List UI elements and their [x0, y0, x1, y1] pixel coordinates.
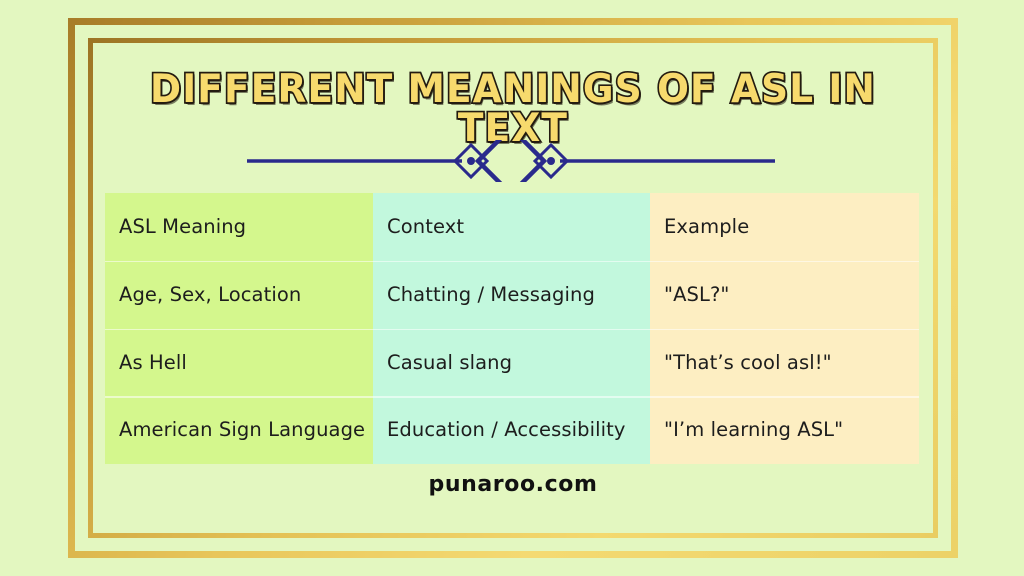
cell-context: Education / Accessibility [373, 396, 650, 464]
divider-dot-right [547, 157, 555, 165]
asl-meanings-table: ASL Meaning Context Example Age, Sex, Lo… [105, 193, 919, 464]
footer: punaroo.com [88, 472, 938, 497]
poster-canvas: DIFFERENT MEANINGS OF ASL IN TEXT ASL Me… [0, 0, 1024, 576]
cell-example: "That’s cool asl!" [650, 329, 919, 397]
table-header-context: Context [373, 193, 650, 261]
table-row: American Sign Language Education / Acces… [105, 396, 919, 464]
table-header-asl-meaning: ASL Meaning [105, 193, 373, 261]
cell-meaning: Age, Sex, Location [105, 261, 373, 329]
cell-context: Casual slang [373, 329, 650, 397]
cell-example: "ASL?" [650, 261, 919, 329]
table-header-row: ASL Meaning Context Example [105, 193, 919, 261]
cell-meaning: American Sign Language [105, 396, 373, 464]
diamond-divider [247, 140, 775, 182]
cell-context: Chatting / Messaging [373, 261, 650, 329]
divider-dot-left [467, 157, 475, 165]
cell-meaning: As Hell [105, 329, 373, 397]
table-row: As Hell Casual slang "That’s cool asl!" [105, 329, 919, 397]
table-row: Age, Sex, Location Chatting / Messaging … [105, 261, 919, 329]
footer-watermark: punaroo.com [428, 472, 597, 497]
page-title-container: DIFFERENT MEANINGS OF ASL IN TEXT [88, 70, 938, 148]
page-title: DIFFERENT MEANINGS OF ASL IN TEXT [105, 70, 921, 148]
table-header-example: Example [650, 193, 919, 261]
cell-example: "I’m learning ASL" [650, 396, 919, 464]
